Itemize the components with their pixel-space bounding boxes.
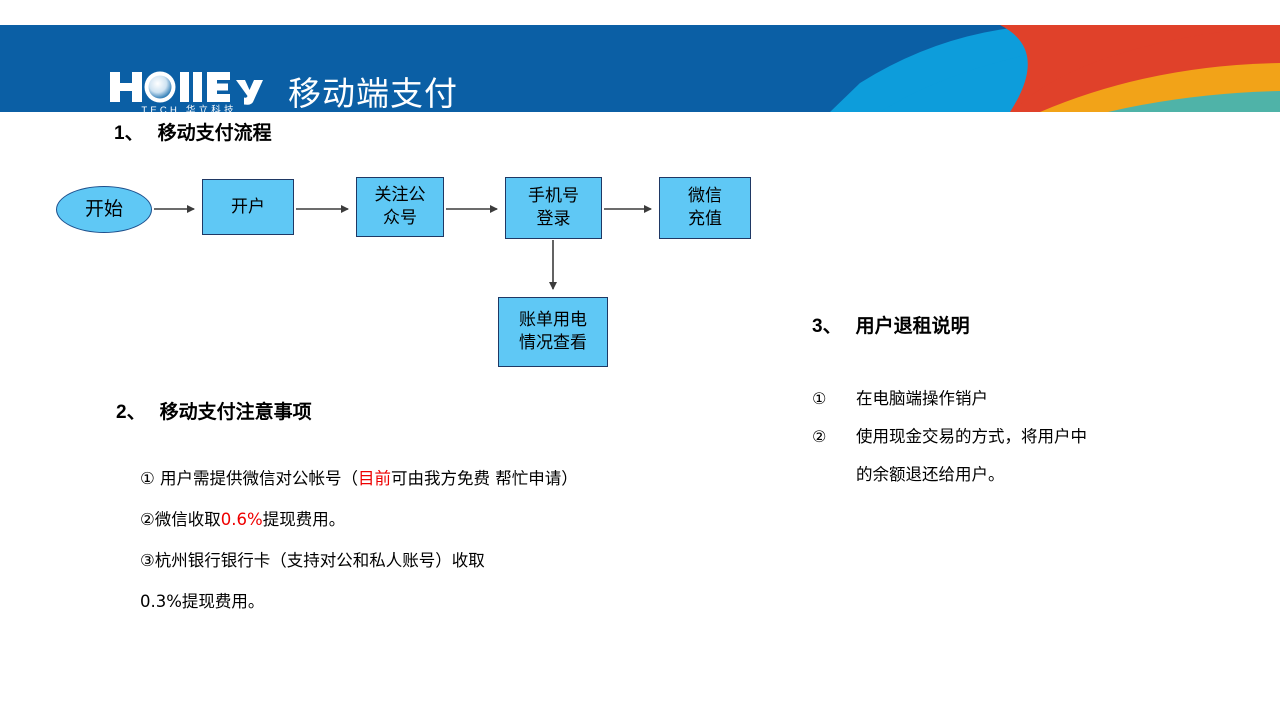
flow-node-bill-label: 账单用电情况查看 [519, 309, 587, 355]
section-3-number: 3、 [812, 316, 842, 337]
holley-wordmark-icon [108, 69, 270, 105]
sec3-item2-text: 使用现金交易的方式，将用户中 [856, 418, 1232, 456]
sec2-item2-part-a: ②微信收取 [140, 510, 221, 529]
flow-node-gzh-label: 关注公众号 [375, 184, 426, 230]
flow-node-start[interactable]: 开始 [56, 186, 152, 233]
flow-node-phone-login[interactable]: 手机号登录 [505, 177, 602, 239]
section-3-item-1: ① 在电脑端操作销户 [812, 380, 1232, 418]
sec3-item2-continuation: 的余额退还给用户。 [856, 456, 1232, 494]
section-3-item-2: ② 使用现金交易的方式，将用户中 [812, 418, 1232, 456]
section-2-item-2: ②微信收取0.6%提现费用。 [140, 499, 640, 540]
section-heading-2: 2、移动支付注意事项 [116, 400, 312, 426]
section-2-content: ① 用户需提供微信对公帐号（目前可由我方免费 帮忙申请） ②微信收取0.6%提现… [140, 458, 640, 622]
sec3-item1-text: 在电脑端操作销户 [856, 380, 1232, 418]
section-3-content: ① 在电脑端操作销户 ② 使用现金交易的方式，将用户中 的余额退还给用户。 [812, 380, 1232, 494]
page-title: 移动端支付 [288, 72, 458, 112]
sec2-item1-part-c: 帮忙申请） [495, 469, 578, 488]
flow-node-phone-label: 手机号登录 [528, 185, 579, 231]
section-2-item-3-line-2: 0.3%提现费用。 [140, 581, 640, 622]
company-logo: TECH 华立科技 [108, 69, 270, 112]
sec2-item2-part-b: 提现费用。 [263, 510, 346, 529]
flow-node-wechat-label: 微信充值 [688, 185, 722, 231]
sec3-item2-marker: ② [812, 418, 856, 456]
sec2-item1-part-a: ① 用户需提供微信对公帐号（ [140, 469, 358, 488]
flow-node-wechat-recharge[interactable]: 微信充值 [659, 177, 751, 239]
sec3-item1-marker: ① [812, 380, 856, 418]
sec2-item1-highlight: 目前 [358, 469, 391, 488]
slide-canvas: TECH 华立科技 移动端支付 1、移动支付流程 开始 开户 关注公众号 手 [0, 0, 1280, 720]
payment-flow-diagram: 开始 开户 关注公众号 手机号登录 微信充值 账单用电情况查看 [0, 0, 820, 400]
flow-node-bill-usage-view[interactable]: 账单用电情况查看 [498, 297, 608, 367]
section-2-item-1: ① 用户需提供微信对公帐号（目前可由我方免费 帮忙申请） [140, 458, 640, 499]
sec2-item2-highlight: 0.6% [221, 510, 263, 529]
logo-subtitle: TECH 华立科技 [108, 105, 270, 112]
section-2-title: 移动支付注意事项 [160, 402, 312, 423]
flow-node-follow-official-account[interactable]: 关注公众号 [356, 177, 444, 237]
section-2-number: 2、 [116, 402, 146, 423]
section-2-item-3-line-1: ③杭州银行银行卡（支持对公和私人账号）收取 [140, 540, 640, 581]
section-heading-3: 3、用户退租说明 [812, 314, 970, 340]
sec2-item1-part-b: 可由我方免费 [391, 469, 490, 488]
section-3-title: 用户退租说明 [856, 316, 970, 337]
flow-node-open-account[interactable]: 开户 [202, 179, 294, 235]
